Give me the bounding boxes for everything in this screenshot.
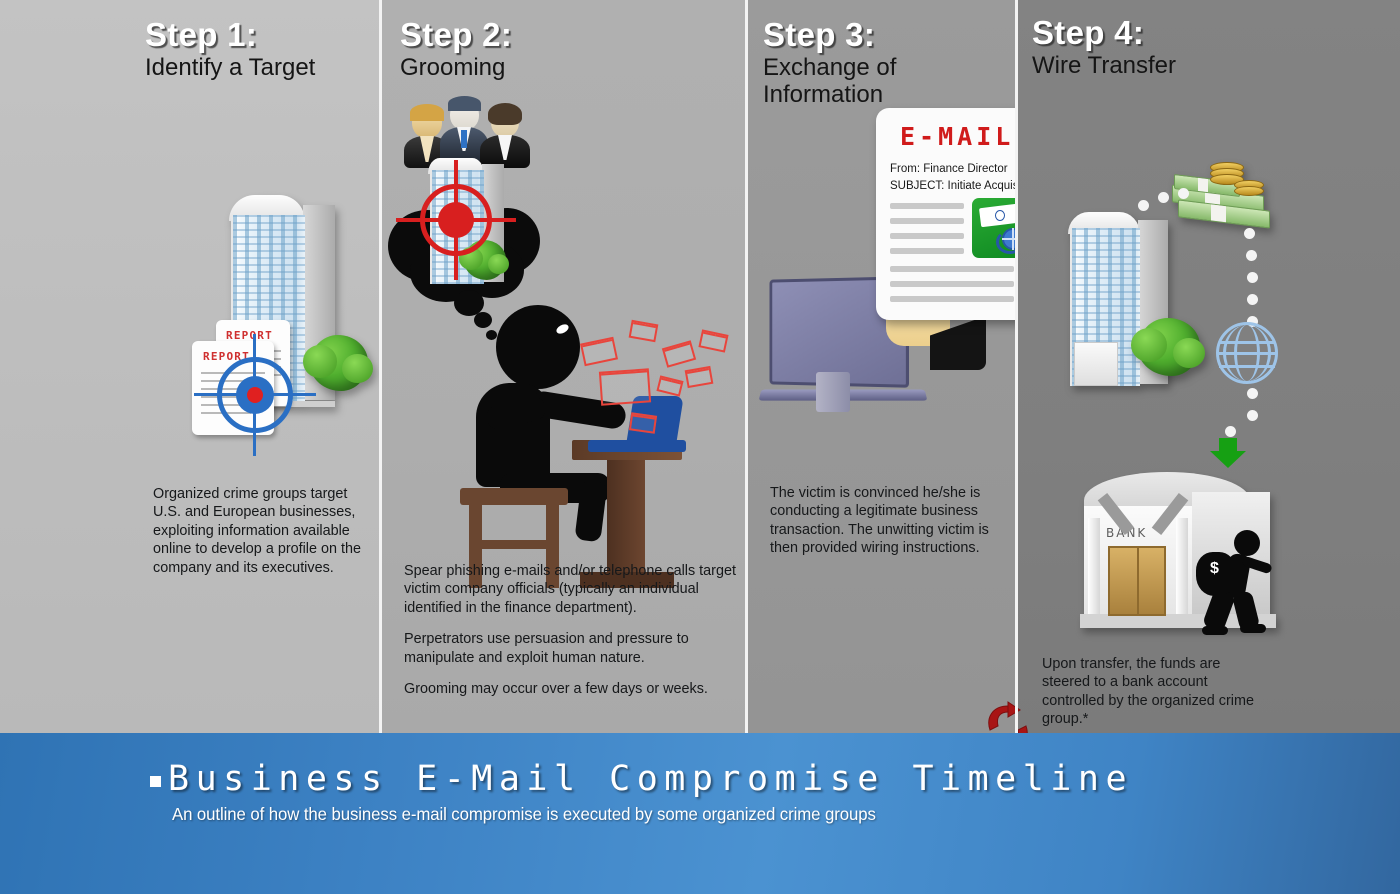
step-3-number: Step 3: xyxy=(763,18,1016,53)
bush-icon xyxy=(310,335,368,391)
thief-with-money-bag-icon: $ xyxy=(1196,530,1276,628)
square-bullet-icon xyxy=(150,776,161,787)
footer-subtitle: An outline of how the business e-mail co… xyxy=(172,804,1207,825)
step-1-header: Step 1: Identify a Target xyxy=(145,18,315,81)
infographic-root: Step 1: Identify a Target REPORT xyxy=(0,0,1400,894)
envelope-icon xyxy=(629,412,657,433)
step-3-paragraph-1: The victim is convinced he/she is conduc… xyxy=(770,484,1008,558)
step-2-body: Spear phishing e-mails and/or telephone … xyxy=(404,562,746,699)
email-from-line: From: Finance Director xyxy=(890,163,1008,175)
step-3-panel: Step 3: Exchange of Information E-MAIL F… xyxy=(748,0,1016,733)
email-heading: E-MAIL xyxy=(900,122,1014,151)
step-1-body: Organized crime groups target U.S. and E… xyxy=(153,485,371,577)
step-1-panel: Step 1: Identify a Target REPORT xyxy=(0,0,380,733)
money-globe-transfer-icon xyxy=(972,198,1016,258)
step-4-paragraph-1: Upon transfer, the funds are steered to … xyxy=(1042,655,1266,729)
footer-content: Business E-Mail Compromise Timeline An o… xyxy=(150,759,1250,825)
step-3-header: Step 3: Exchange of Information xyxy=(763,18,1016,109)
step-2-number: Step 2: xyxy=(400,18,512,53)
step-3-body: The victim is convinced he/she is conduc… xyxy=(770,484,1008,558)
envelope-icon xyxy=(580,337,618,367)
envelope-icon xyxy=(698,329,728,352)
panel-divider-2 xyxy=(745,0,748,733)
step-4-panel: Step 4: Wire Transfer xyxy=(1018,0,1400,733)
envelope-icon xyxy=(599,368,651,405)
email-card-icon: E-MAIL From: Finance Director SUBJECT: I… xyxy=(876,108,1016,320)
step-4-body: Upon transfer, the funds are steered to … xyxy=(1042,655,1266,729)
step-2-paragraph-3: Grooming may occur over a few days or we… xyxy=(404,680,746,698)
footer-banner: Business E-Mail Compromise Timeline An o… xyxy=(0,733,1400,894)
money-bag-symbol: $ xyxy=(1210,560,1219,578)
panel-divider-3 xyxy=(1015,0,1018,733)
step-1-title: Identify a Target xyxy=(145,54,315,82)
crosshair-target-icon xyxy=(200,340,310,450)
envelope-icon xyxy=(685,366,714,388)
step-1-paragraph-1: Organized crime groups target U.S. and E… xyxy=(153,485,371,577)
email-subject-line: SUBJECT: Initiate Acquisition xyxy=(890,180,1016,192)
step-3-title: Exchange of Information xyxy=(763,54,1016,109)
step-2-panel: Step 2: Grooming xyxy=(382,0,746,733)
globe-icon xyxy=(1216,322,1278,384)
crosshair-target-icon xyxy=(404,168,508,272)
envelope-cluster-icon xyxy=(582,318,732,448)
step-1-number: Step 1: xyxy=(145,18,315,53)
step-2-header: Step 2: Grooming xyxy=(400,18,512,81)
panel-divider-1 xyxy=(379,0,382,733)
envelope-icon xyxy=(629,320,659,342)
footer-title-row: Business E-Mail Compromise Timeline xyxy=(150,759,1250,799)
step-2-paragraph-1: Spear phishing e-mails and/or telephone … xyxy=(404,562,746,617)
dotted-path-icon xyxy=(1018,0,1400,520)
envelope-icon xyxy=(662,340,696,367)
step-2-paragraph-2: Perpetrators use persuasion and pressure… xyxy=(404,630,746,667)
envelope-icon xyxy=(656,375,683,396)
step-2-title: Grooming xyxy=(400,54,512,82)
footer-title: Business E-Mail Compromise Timeline xyxy=(168,759,1133,799)
